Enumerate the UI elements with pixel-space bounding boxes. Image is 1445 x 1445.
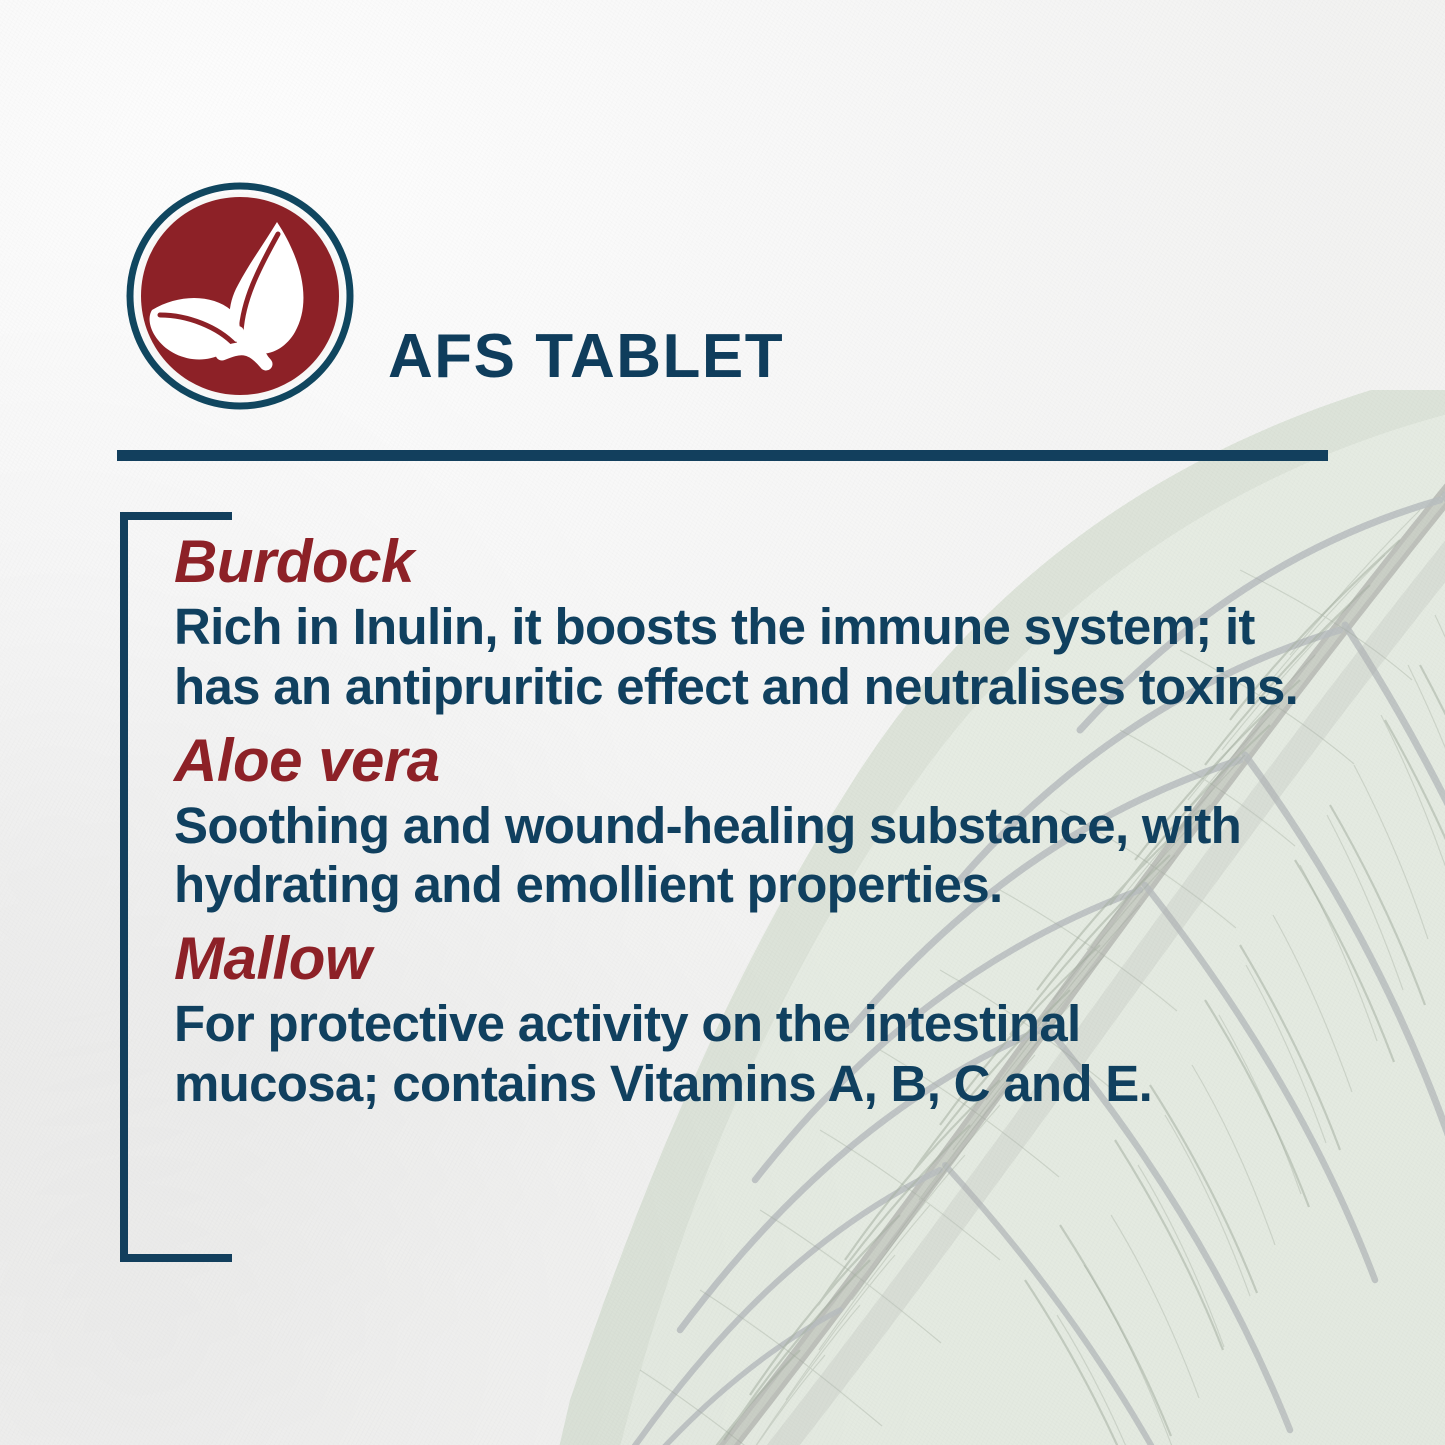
ingredient-name: Mallow [174, 925, 1324, 992]
leaf-sprout-logo [126, 182, 354, 410]
ingredient-list: Burdock Rich in Inulin, it boosts the im… [174, 528, 1324, 1124]
content-bracket-bottom-stub [120, 1254, 232, 1262]
list-item: Burdock Rich in Inulin, it boosts the im… [174, 528, 1324, 717]
list-item: Mallow For protective activity on the in… [174, 925, 1324, 1114]
content-bracket-vertical [120, 512, 128, 1262]
ingredient-description: For protective activity on the intestina… [174, 994, 1274, 1113]
content-bracket-top-stub [120, 512, 232, 520]
page-title: AFS TABLET [388, 326, 784, 388]
list-item: Aloe vera Soothing and wound-healing sub… [174, 727, 1324, 916]
ingredient-name: Burdock [174, 528, 1324, 595]
header-divider [117, 450, 1328, 461]
ingredient-description: Soothing and wound-healing substance, wi… [174, 796, 1264, 915]
product-info-card: AFS TABLET Burdock Rich in Inulin, it bo… [0, 0, 1445, 1445]
ingredient-name: Aloe vera [174, 727, 1324, 794]
ingredient-description: Rich in Inulin, it boosts the immune sys… [174, 597, 1324, 716]
